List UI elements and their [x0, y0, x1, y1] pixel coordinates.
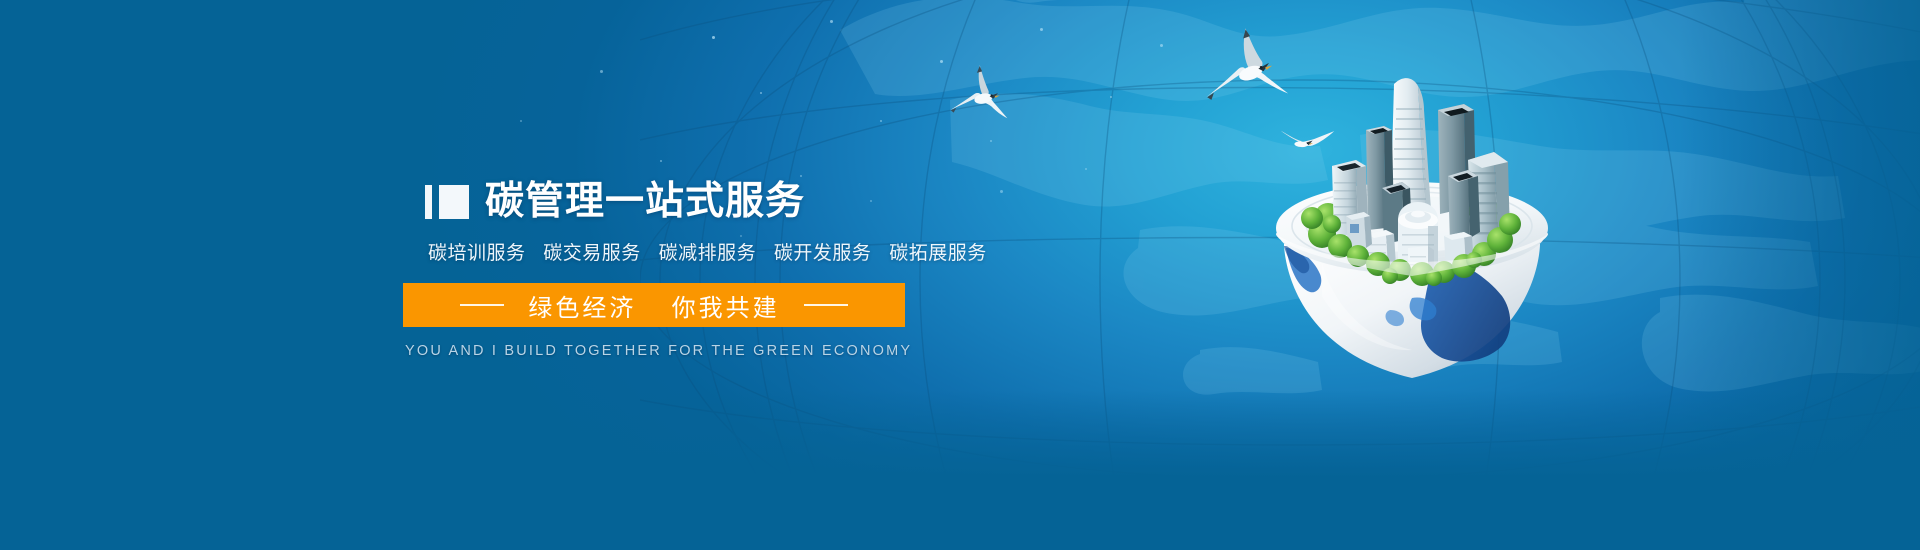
mark-bar-shape — [425, 185, 432, 219]
service-item-3: 碳开发服务 — [774, 243, 872, 264]
slogan-bar: 绿色经济 你我共建 — [403, 283, 905, 327]
mark-square-shape — [439, 185, 469, 219]
slogan-right-dash-icon — [804, 304, 848, 306]
service-item-1: 碳交易服务 — [543, 243, 641, 264]
slogan-text-part2: 你我共建 — [672, 295, 780, 322]
page-title: 碳管理一站式服务 — [485, 180, 805, 224]
service-item-0: 碳培训服务 — [428, 243, 526, 264]
service-item-2: 碳减排服务 — [659, 243, 757, 264]
headline-row: 碳管理一站式服务 — [425, 178, 1045, 226]
slogan-left-dash-icon — [460, 304, 504, 306]
slogan-text-part1: 绿色经济 — [528, 295, 636, 322]
seagull-bird-1 — [940, 52, 1033, 133]
slogan-text: 绿色经济 你我共建 — [528, 288, 779, 323]
english-tagline: YOU AND I BUILD TOGETHER FOR THE GREEN E… — [405, 343, 907, 359]
service-item-4: 碳拓展服务 — [889, 243, 987, 264]
hero-text-block: 碳管理一站式服务 碳培训服务 碳交易服务 碳减排服务 碳开发服务 碳拓展服务 绿… — [425, 178, 1045, 359]
hero-banner: 碳管理一站式服务 碳培训服务 碳交易服务 碳减排服务 碳开发服务 碳拓展服务 绿… — [0, 0, 1920, 550]
bar-and-square-mark-icon — [425, 185, 469, 219]
service-list: 碳培训服务 碳交易服务 碳减排服务 碳开发服务 碳拓展服务 — [428, 238, 1045, 265]
globe-city-graphic — [1262, 48, 1562, 408]
